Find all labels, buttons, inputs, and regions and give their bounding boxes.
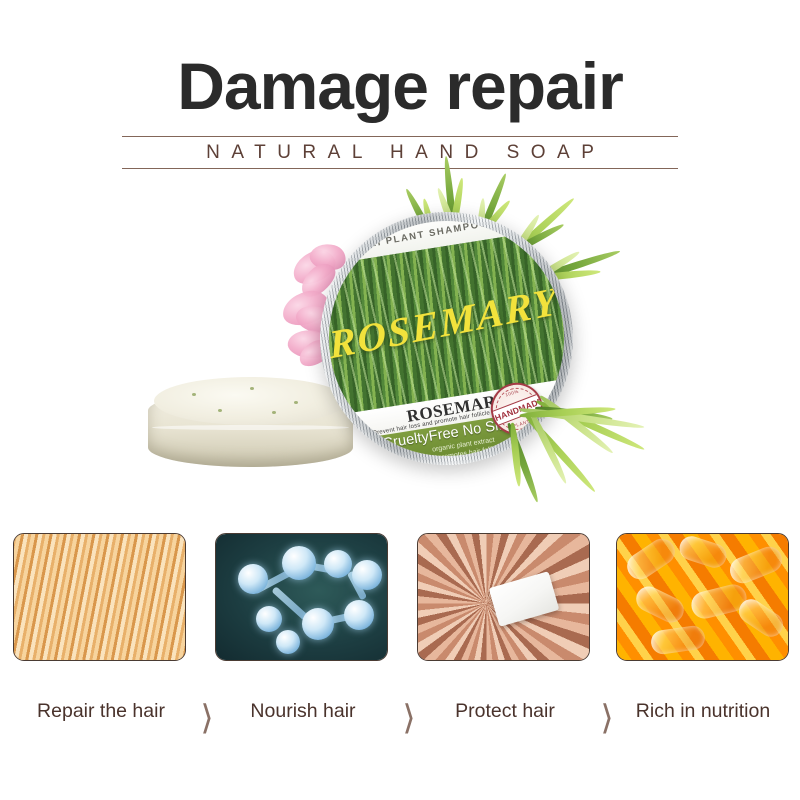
soap-bar-seam [152,425,349,430]
subtitle-rule-top [122,136,678,137]
benefit-thumbnail-nourish[interactable] [215,533,388,661]
benefit-caption-protect: Protect hair [410,700,600,723]
soap-bar-product [148,377,353,477]
soap-bar-chip-icon [489,572,560,628]
benefit-thumbnail-repair[interactable] [13,533,186,661]
amber-oil-capsules-image [617,534,788,660]
golden-hair-strands-image [14,534,185,660]
page-headline: Damage repair [0,52,800,121]
benefit-caption-row: Repair the hair ⟩ Nourish hair ⟩ Protect… [0,700,800,750]
product-marketing-page: Damage repair NATURAL HAND SOAP [0,0,800,800]
benefit-caption-nourish: Nourish hair [208,700,398,723]
benefit-thumbnail-nutrition[interactable] [616,533,789,661]
hero-product-scene: FRESH PLANT SHAMPOO BAR ROSEMARY ROSEMAR… [0,160,800,530]
benefit-caption-nutrition: Rich in nutrition [608,700,798,723]
copper-hair-with-soap-bar-image [418,534,589,660]
benefit-caption-repair: Repair the hair [6,700,196,723]
benefit-thumbnail-protect[interactable] [417,533,590,661]
blue-molecule-structure-image [216,534,387,660]
benefit-thumbnail-row [0,533,800,663]
soap-bar-top [154,377,347,425]
